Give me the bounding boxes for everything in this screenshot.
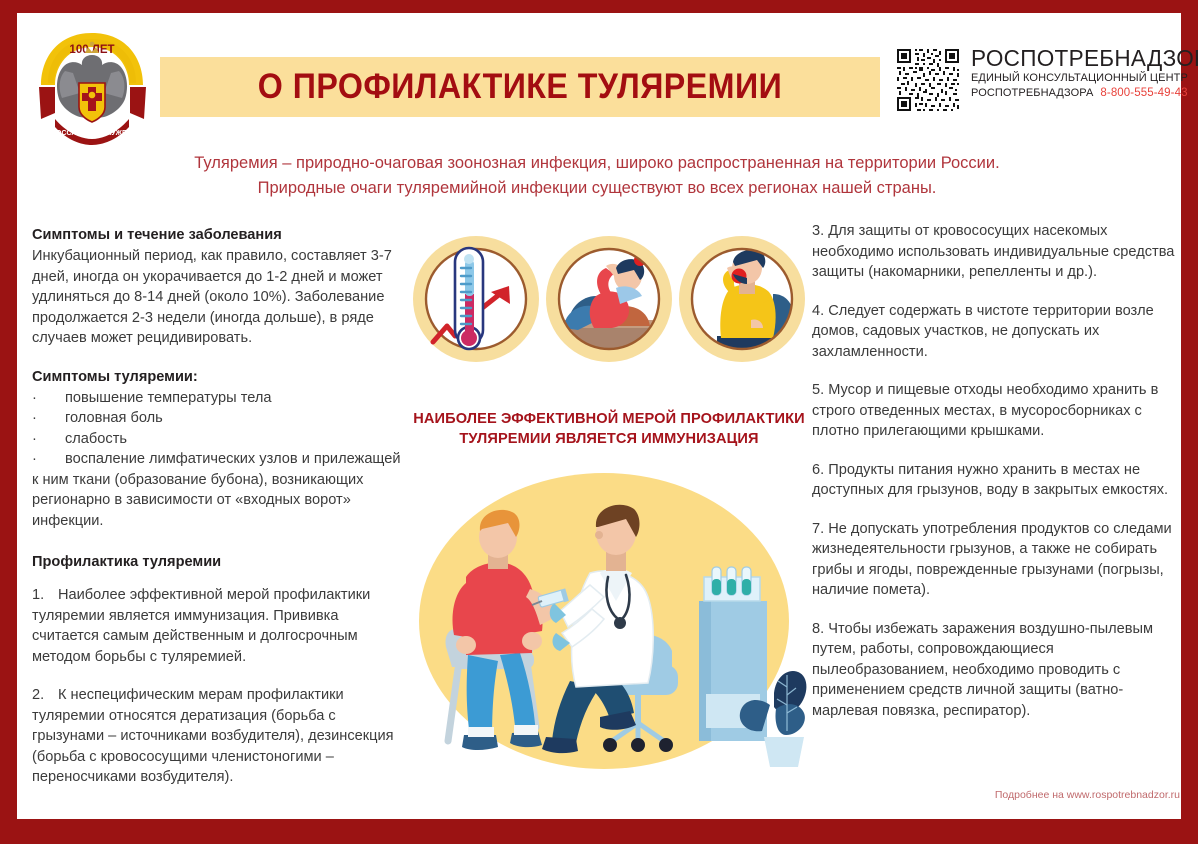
- list-item: · головная боль: [32, 408, 407, 429]
- symptom-label: слабость: [65, 429, 407, 450]
- intro-line-1: Туляремия – природно-очаговая зоонозная …: [97, 151, 1097, 176]
- prevention-item-3: 3. Для защиты от кровососущих насекомых …: [812, 221, 1180, 283]
- center-heading-line-2: ТУЛЯРЕМИИ ЯВЛЯЕТСЯ ИММУНИЗАЦИЯ: [409, 429, 809, 449]
- left-column: Симптомы и течение заболевания Инкубацио…: [32, 225, 407, 788]
- intro-line-2: Природные очаги туляремийной инфекции су…: [97, 176, 1097, 201]
- symptom-label-continued: к ним ткани (образование бубона), возник…: [32, 470, 407, 532]
- title-banner: О ПРОФИЛАКТИКЕ ТУЛЯРЕМИИ: [160, 57, 880, 117]
- prevention-item-2-number: 2.: [32, 685, 58, 706]
- symptoms-list: · повышение температуры тела · головная …: [32, 388, 407, 470]
- doctor-vaccinating-patient-illustration: [404, 469, 814, 799]
- intro-paragraph: Туляремия – природно-очаговая зоонозная …: [97, 151, 1097, 201]
- symptoms-heading: Симптомы и течение заболевания: [32, 225, 407, 246]
- prevention-item-2-text: К неспецифическим мерам профилактики тул…: [32, 687, 394, 785]
- list-item: · повышение температуры тела: [32, 388, 407, 409]
- prevention-item-8: 8. Чтобы избежать заражения воздушно-пыл…: [812, 619, 1180, 722]
- prevention-heading: Профилактика туляремии: [32, 552, 407, 573]
- symptom-label: повышение температуры тела: [65, 388, 407, 409]
- symptom-label: головная боль: [65, 408, 407, 429]
- emblem-bottom-text: ГОССАНЭПИДСЛУЖБА: [52, 130, 132, 137]
- center-heading-line-1: НАИБОЛЕЕ ЭФФЕКТИВНОЙ МЕРОЙ ПРОФИЛАКТИКИ: [409, 409, 809, 429]
- thermometer-fever-icon: [411, 234, 541, 364]
- center-column: НАИБОЛЕЕ ЭФФЕКТИВНОЙ МЕРОЙ ПРОФИЛАКТИКИ …: [409, 221, 809, 821]
- poster-canvas: 100 ЛЕТ: [17, 13, 1181, 819]
- bullet-dot-icon: ·: [32, 449, 65, 470]
- person-headache-icon: [544, 234, 674, 364]
- bullet-dot-icon: ·: [32, 429, 65, 450]
- list-item: · слабость: [32, 429, 407, 450]
- prevention-item-2: 2.К неспецифическим мерам профилактики т…: [32, 685, 407, 788]
- brand-subtitle-1: ЕДИНЫЙ КОНСУЛЬТАЦИОННЫЙ ЦЕНТР: [971, 71, 1173, 86]
- prevention-item-5: 5. Мусор и пищевые отходы необходимо хра…: [812, 380, 1180, 442]
- qr-code-icon: [895, 47, 961, 113]
- list-item: · воспаление лимфатических узлов и приле…: [32, 449, 407, 470]
- brand-name: РОСПОТРЕБНАДЗОР: [971, 45, 1169, 71]
- right-column: 3. Для защиты от кровососущих насекомых …: [812, 221, 1180, 721]
- bullet-dot-icon: ·: [32, 408, 65, 429]
- bullet-dot-icon: ·: [32, 388, 65, 409]
- person-swollen-node-icon: [677, 234, 807, 364]
- symptoms-list-heading: Симптомы туляремии:: [32, 367, 407, 388]
- poster-header: 100 ЛЕТ: [17, 13, 1181, 131]
- symptoms-body: Инкубационный период, как правило, соста…: [32, 246, 407, 349]
- prevention-item-4: 4. Следует содержать в чистоте территори…: [812, 301, 1180, 363]
- symptom-label: воспаление лимфатических узлов и прилежа…: [65, 449, 407, 470]
- rospotrebnadzor-emblem-icon: 100 ЛЕТ: [35, 27, 150, 145]
- brand-text-block: РОСПОТРЕБНАДЗОР ЕДИНЫЙ КОНСУЛЬТАЦИОННЫЙ …: [971, 45, 1173, 101]
- center-heading: НАИБОЛЕЕ ЭФФЕКТИВНОЙ МЕРОЙ ПРОФИЛАКТИКИ …: [409, 409, 809, 449]
- page-title: О ПРОФИЛАКТИКЕ ТУЛЯРЕМИИ: [258, 67, 782, 107]
- symptom-icons-row: [409, 229, 809, 377]
- prevention-item-7: 7. Не допускать употребления продуктов с…: [812, 519, 1180, 601]
- hotline-phone-number[interactable]: 8-800-555-49-43: [1100, 86, 1187, 101]
- brand-block: РОСПОТРЕБНАДЗОР ЕДИНЫЙ КОНСУЛЬТАЦИОННЫЙ …: [895, 45, 1173, 127]
- brand-subtitle-2-row: РОСПОТРЕБНАДЗОРА 8-800-555-49-43: [971, 86, 1173, 101]
- prevention-item-1-text: Наиболее эффективной мерой профилактики …: [32, 587, 370, 665]
- brand-subtitle-2: РОСПОТРЕБНАДЗОРА: [971, 86, 1093, 101]
- prevention-item-6: 6. Продукты питания нужно хранить в мест…: [812, 460, 1180, 501]
- prevention-item-1: 1.Наиболее эффективной мерой профилактик…: [32, 585, 407, 667]
- footer-more-info[interactable]: Подробнее на www.rospotrebnadzor.ru: [812, 789, 1180, 801]
- prevention-item-1-number: 1.: [32, 585, 58, 606]
